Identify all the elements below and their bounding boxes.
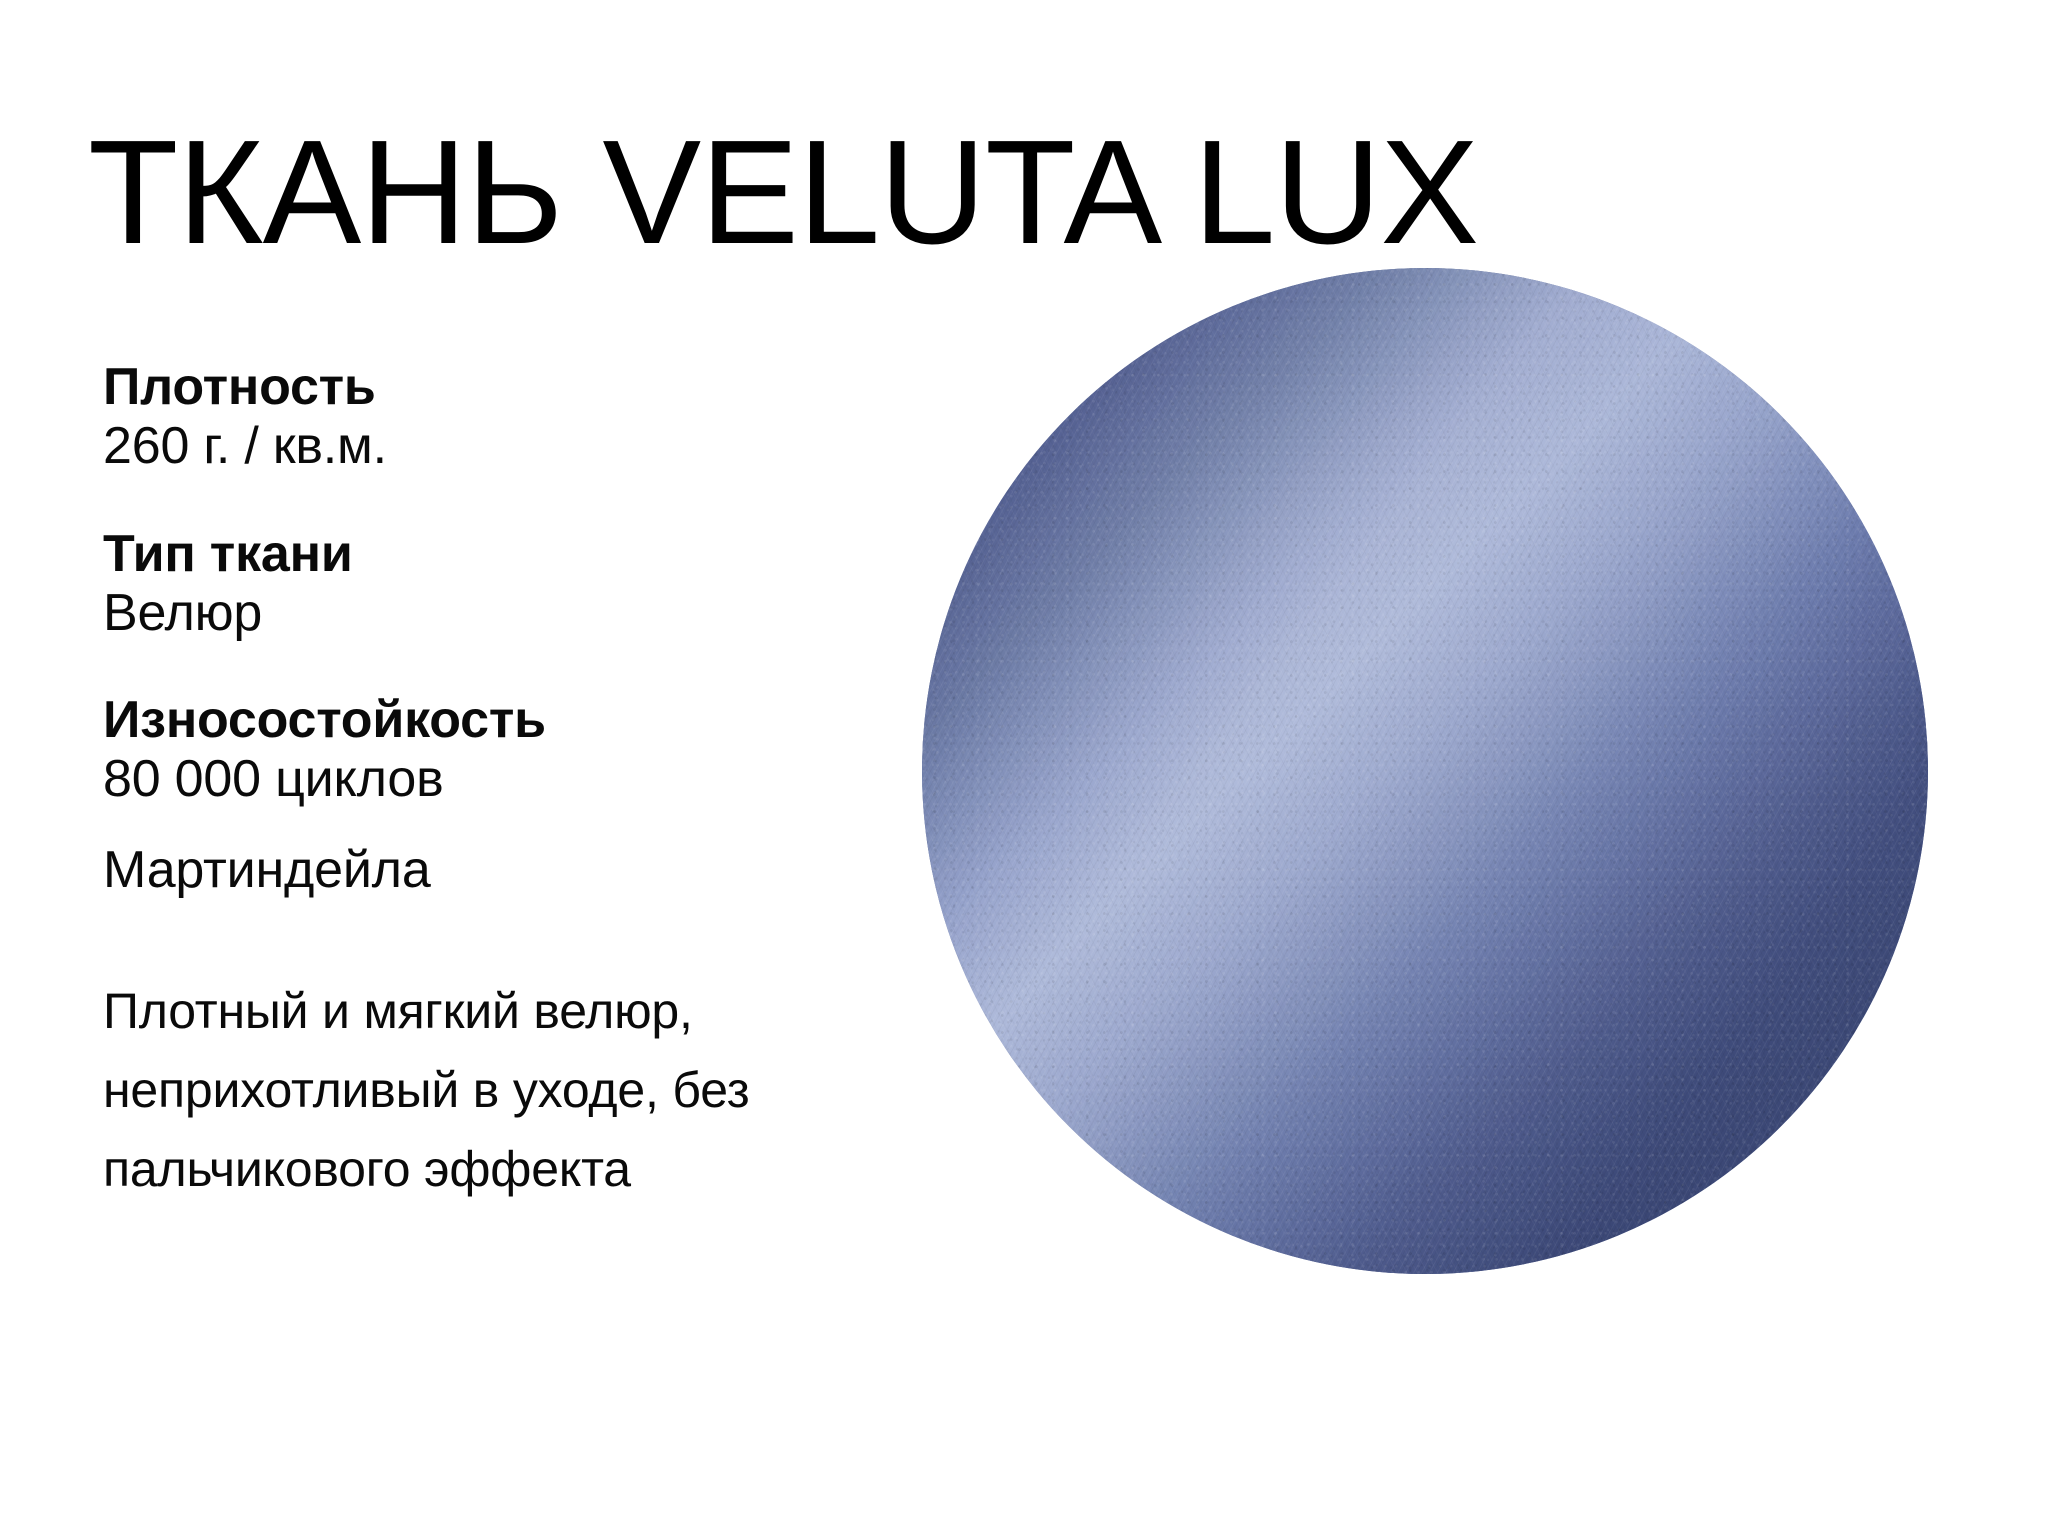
fabric-specs-list: Плотность 260 г. / кв.м. Тип ткани Велюр… bbox=[103, 358, 943, 1259]
spec-value: Велюр bbox=[103, 583, 943, 643]
spec-value-second-line: Мартиндейла bbox=[103, 840, 943, 900]
swatch-vignette bbox=[922, 268, 1928, 1274]
page-title: ТКАНЬ VELUTA LUX bbox=[88, 119, 1478, 267]
spec-label: Плотность bbox=[103, 358, 943, 416]
spec-item-density: Плотность 260 г. / кв.м. bbox=[103, 358, 943, 477]
spec-value: 260 г. / кв.м. bbox=[103, 416, 943, 476]
spec-item-abrasion-resistance: Износостойкость 80 000 циклов Мартиндейл… bbox=[103, 691, 943, 900]
spec-label: Тип ткани bbox=[103, 525, 943, 583]
fabric-spec-slide: ТКАНЬ VELUTA LUX Плотность 260 г. / кв.м… bbox=[0, 0, 2048, 1536]
spec-value: 80 000 циклов bbox=[103, 749, 943, 809]
spec-label: Износостойкость bbox=[103, 691, 943, 749]
fabric-description: Плотный и мягкий велюр, неприхотливый в … bbox=[103, 972, 923, 1209]
spec-item-fabric-type: Тип ткани Велюр bbox=[103, 525, 943, 644]
fabric-swatch-image bbox=[922, 268, 1928, 1274]
